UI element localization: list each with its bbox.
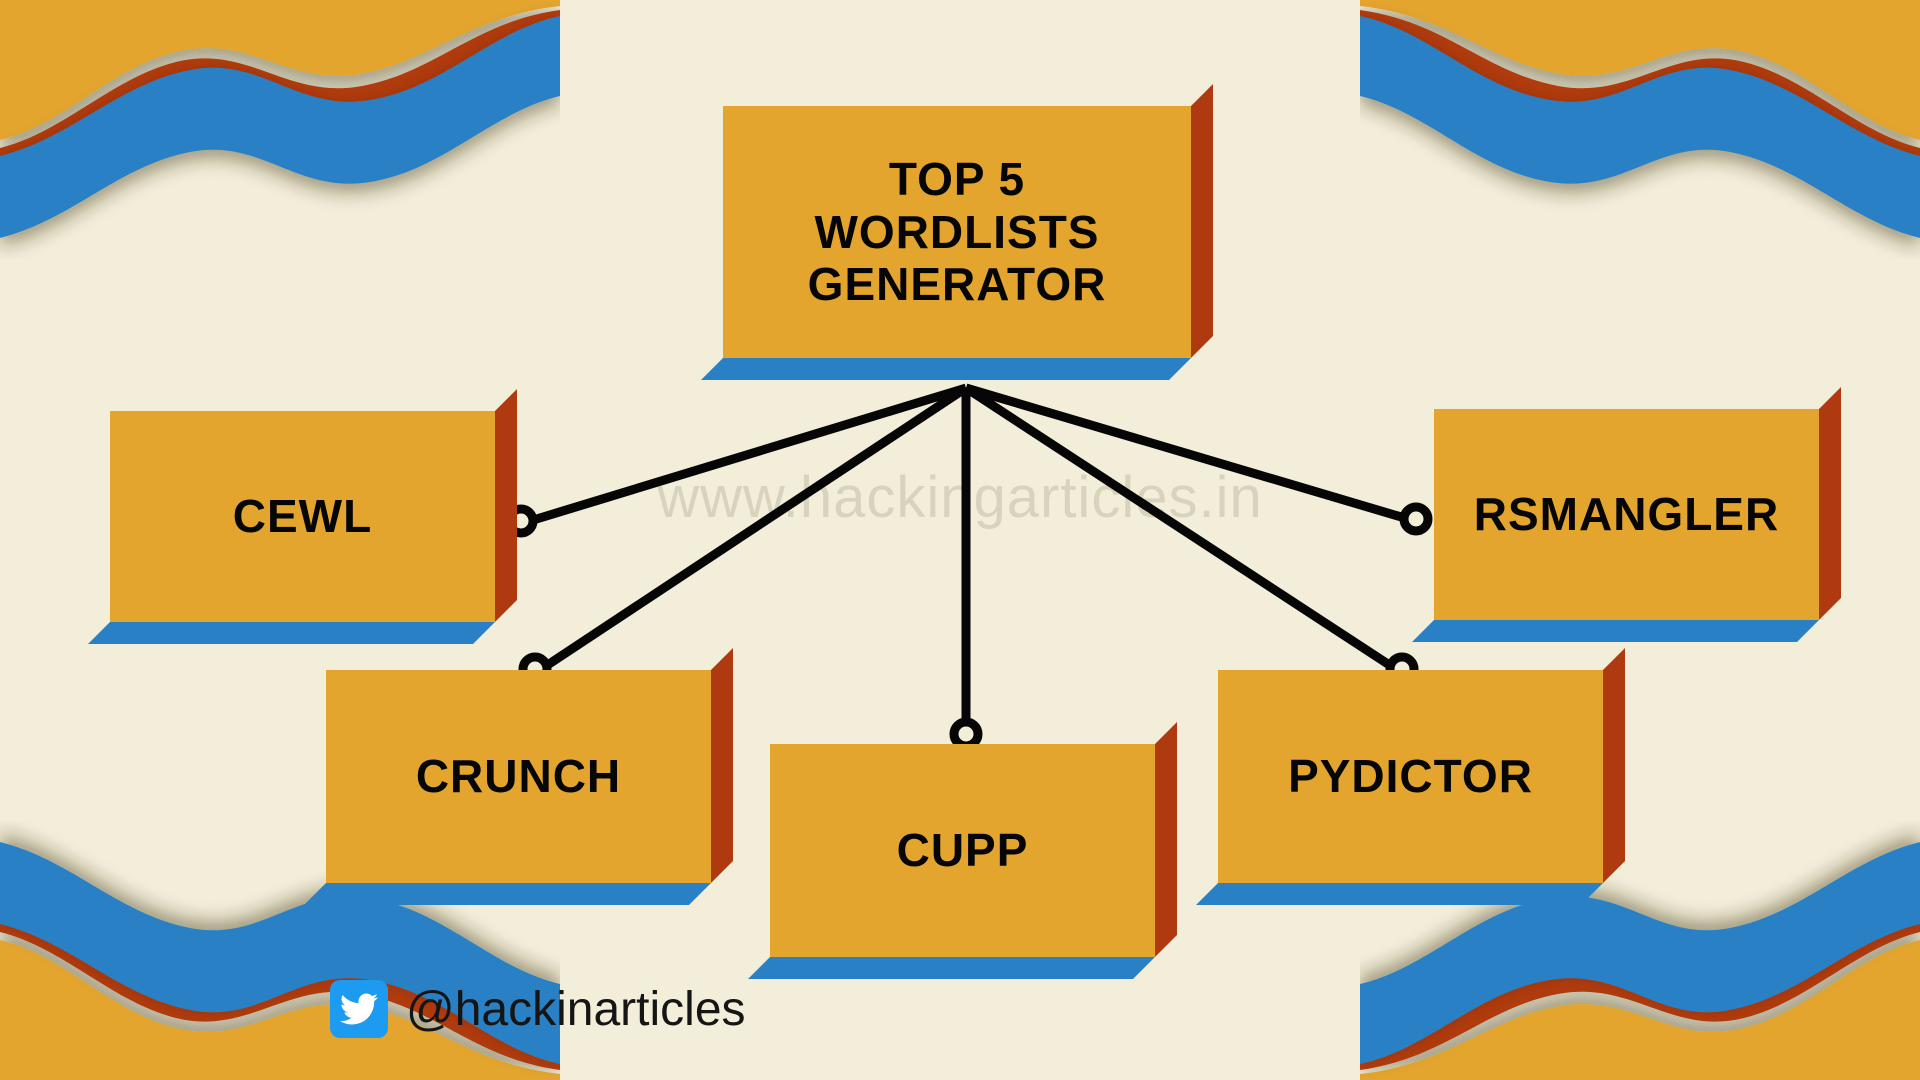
node-box-side-bottom xyxy=(748,957,1155,979)
wave-graphic xyxy=(0,0,560,260)
title-box-label: TOP 5 WORDLISTS GENERATOR xyxy=(808,153,1107,310)
node-box-side-bottom xyxy=(1412,620,1819,642)
node-box-pydictor[interactable]: PYDICTOR xyxy=(1218,670,1603,883)
node-box-side-right xyxy=(1155,722,1177,957)
node-box-side-right xyxy=(1603,648,1625,883)
node-box-cupp[interactable]: CUPP xyxy=(770,744,1155,957)
node-box-face: CRUNCH xyxy=(326,670,711,883)
wave-graphic xyxy=(1360,0,1920,260)
node-label-pydictor: PYDICTOR xyxy=(1288,750,1533,802)
node-box-face: CEWL xyxy=(110,411,495,622)
title-box: TOP 5 WORDLISTS GENERATOR xyxy=(723,106,1191,358)
title-box-side-bottom xyxy=(701,358,1191,380)
twitter-credit[interactable]: @hackinarticles xyxy=(330,980,746,1038)
node-box-side-bottom xyxy=(1196,883,1603,905)
corner-wave-top-left xyxy=(0,0,560,260)
infographic-canvas: www.hackingarticles.in TOP 5 WORDLISTS G… xyxy=(0,0,1920,1080)
connector-dot-cupp xyxy=(954,722,978,746)
node-box-rsmangler[interactable]: RSMANGLER xyxy=(1434,409,1819,620)
node-label-cupp: CUPP xyxy=(897,824,1029,876)
title-box-side-right xyxy=(1191,84,1213,358)
node-label-cewl: CEWL xyxy=(233,490,372,542)
node-box-side-right xyxy=(495,389,517,622)
node-label-rsmangler: RSMANGLER xyxy=(1474,488,1779,540)
node-label-crunch: CRUNCH xyxy=(416,750,621,802)
node-box-face: CUPP xyxy=(770,744,1155,957)
title-box-face: TOP 5 WORDLISTS GENERATOR xyxy=(723,106,1191,358)
node-box-face: RSMANGLER xyxy=(1434,409,1819,620)
node-box-side-bottom xyxy=(88,622,495,644)
twitter-handle-text: @hackinarticles xyxy=(406,982,746,1037)
node-box-side-bottom xyxy=(304,883,711,905)
node-box-side-right xyxy=(711,648,733,883)
node-box-crunch[interactable]: CRUNCH xyxy=(326,670,711,883)
node-box-cewl[interactable]: CEWL xyxy=(110,411,495,622)
node-box-face: PYDICTOR xyxy=(1218,670,1603,883)
twitter-bird-icon[interactable] xyxy=(330,980,388,1038)
node-box-side-right xyxy=(1819,387,1841,620)
corner-wave-top-right xyxy=(1360,0,1920,260)
